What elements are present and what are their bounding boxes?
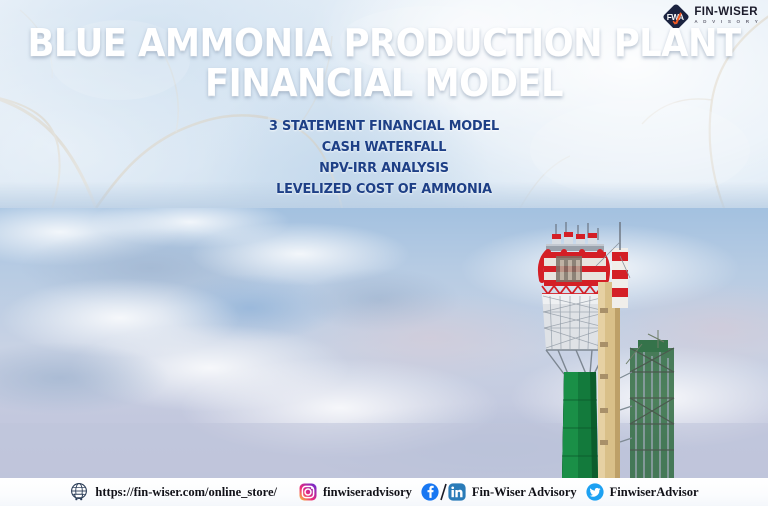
feature-item-2: CASH WATERFALL (19, 137, 749, 158)
website-link[interactable]: https://fin-wiser.com/online_store/ (69, 482, 277, 502)
header-banner: FWA FIN-WISER A D V I S O R Y BLUE AMMON… (0, 0, 768, 208)
linkedin-link[interactable]: Fin-Wiser Advisory (448, 483, 577, 501)
instagram-link[interactable]: finwiseradvisory (299, 483, 412, 501)
twitter-handle: FinwiserAdvisor (610, 485, 699, 500)
logo-name: FIN-WISER (694, 7, 760, 19)
feature-item-3: NPV-IRR ANALYSIS (19, 158, 749, 179)
title-line-2: FINANCIAL MODEL (27, 64, 741, 102)
footer-bar: https://fin-wiser.com/online_store/ finw… (0, 478, 768, 506)
separator-slash-icon (439, 482, 448, 502)
globe-cart-icon (69, 482, 89, 502)
twitter-icon (586, 483, 604, 501)
feature-list: 3 STATEMENT FINANCIAL MODEL CASH WATERFA… (0, 116, 768, 200)
twitter-link[interactable]: FinwiserAdvisor (586, 483, 699, 501)
facebook-link[interactable] (421, 483, 439, 501)
facebook-icon (421, 483, 439, 501)
feature-item-4: LEVELIZED COST OF AMMONIA (19, 179, 749, 200)
plant-tower-illustration (530, 222, 690, 478)
linkedin-handle: Fin-Wiser Advisory (472, 485, 577, 500)
poster-title: BLUE AMMONIA PRODUCTION PLANT FINANCIAL … (0, 24, 768, 102)
instagram-icon (299, 483, 317, 501)
poster-canvas: FWA FIN-WISER A D V I S O R Y BLUE AMMON… (0, 0, 768, 506)
hero-photo (0, 208, 768, 478)
title-line-1: BLUE AMMONIA PRODUCTION PLANT (27, 24, 741, 62)
website-url-text: https://fin-wiser.com/online_store/ (95, 485, 277, 500)
linkedin-icon (448, 483, 466, 501)
instagram-handle: finwiseradvisory (323, 485, 412, 500)
feature-item-1: 3 STATEMENT FINANCIAL MODEL (19, 116, 749, 137)
